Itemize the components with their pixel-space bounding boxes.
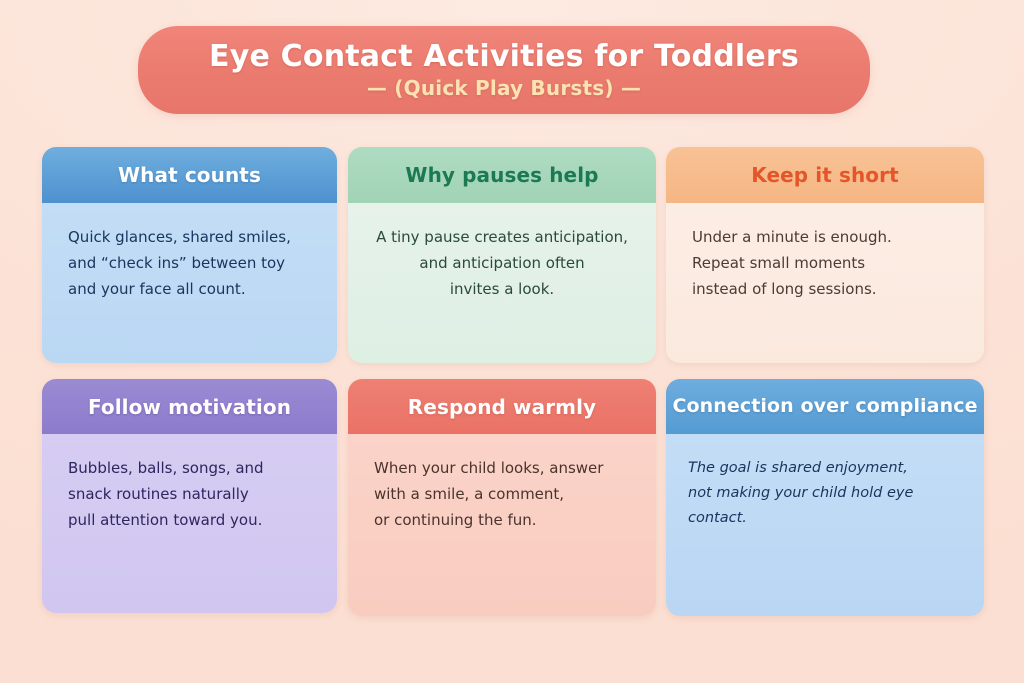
card-title: Follow motivation xyxy=(88,396,291,418)
card-body-line: When your child looks, answer xyxy=(374,456,632,482)
card-body-line: pull attention toward you. xyxy=(68,508,313,534)
card-header: What counts xyxy=(42,147,337,203)
card-title: Respond warmly xyxy=(408,396,596,418)
card-header: Follow motivation xyxy=(42,379,337,434)
card-body-line: instead of long sessions. xyxy=(692,277,960,303)
card-body-line: and anticipation often xyxy=(368,251,636,277)
card-title: Keep it short xyxy=(751,164,899,186)
card-title: Why pauses help xyxy=(405,164,598,186)
card-header: Why pauses help xyxy=(348,147,656,203)
card-respond-warmly: Respond warmly When your child looks, an… xyxy=(348,379,656,616)
card-body-line: with a smile, a comment, xyxy=(374,482,632,508)
card-body-line: Repeat small moments xyxy=(692,251,960,277)
card-body-line: invites a look. xyxy=(368,277,636,303)
card-title: Connection over compliance xyxy=(672,396,977,417)
card-body-line: not making your child hold eye contact. xyxy=(688,481,970,531)
card-body-line: The goal is shared enjoyment, xyxy=(688,456,970,481)
card-body: When your child looks, answer with a smi… xyxy=(348,434,656,616)
card-body: Under a minute is enough. Repeat small m… xyxy=(666,203,984,363)
card-why-pauses-help: Why pauses help A tiny pause creates ant… xyxy=(348,147,656,363)
card-body-line: Quick glances, shared smiles, xyxy=(68,225,313,251)
card-grid: What counts Quick glances, shared smiles… xyxy=(0,0,1024,683)
card-body-line: or continuing the fun. xyxy=(374,508,632,534)
card-header: Keep it short xyxy=(666,147,984,203)
card-follow-motivation: Follow motivation Bubbles, balls, songs,… xyxy=(42,379,337,613)
card-header: Connection over compliance xyxy=(666,379,984,434)
card-body-line: and your face all count. xyxy=(68,277,313,303)
card-body: Quick glances, shared smiles, and “check… xyxy=(42,203,337,363)
card-title: What counts xyxy=(118,164,261,186)
card-connection-over-compliance: Connection over compliance The goal is s… xyxy=(666,379,984,616)
card-keep-it-short: Keep it short Under a minute is enough. … xyxy=(666,147,984,363)
card-header: Respond warmly xyxy=(348,379,656,434)
card-body: A tiny pause creates anticipation, and a… xyxy=(348,203,656,363)
card-body-line: snack routines naturally xyxy=(68,482,313,508)
card-body: Bubbles, balls, songs, and snack routine… xyxy=(42,434,337,613)
infographic-poster: Eye Contact Activities for Toddlers — (Q… xyxy=(0,0,1024,683)
card-what-counts: What counts Quick glances, shared smiles… xyxy=(42,147,337,363)
card-body-line: A tiny pause creates anticipation, xyxy=(368,225,636,251)
card-body: The goal is shared enjoyment, not making… xyxy=(666,434,984,616)
card-body-line: Bubbles, balls, songs, and xyxy=(68,456,313,482)
card-body-line: and “check ins” between toy xyxy=(68,251,313,277)
card-body-line: Under a minute is enough. xyxy=(692,225,960,251)
